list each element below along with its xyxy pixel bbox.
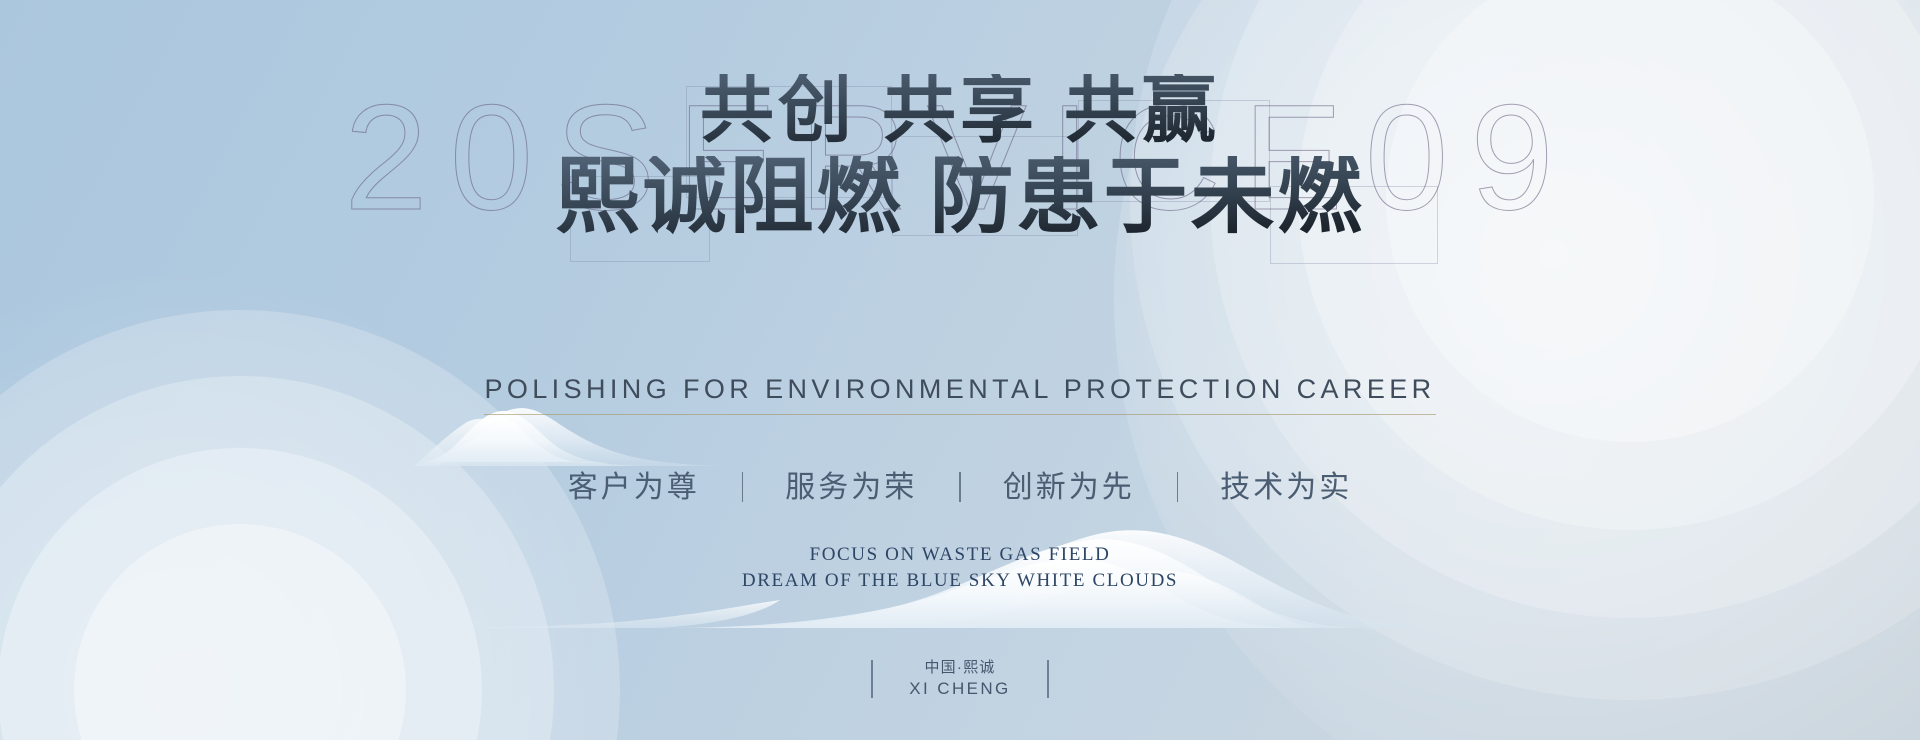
headline-word-4: 熙诚阻燃	[555, 151, 903, 244]
lockup-rule-left	[871, 660, 873, 698]
serif-tagline-line-1: FOCUS ON WASTE GAS FIELD	[0, 542, 1920, 568]
slogan-item-1: 客户为尊	[568, 462, 700, 506]
left-mountain-ridge	[414, 419, 496, 466]
slogan-separator-3	[1177, 472, 1179, 502]
left-foot-haze	[400, 600, 780, 628]
headline-line-2: 熙诚阻燃防患于未燃	[0, 156, 1920, 240]
slogan-item-2: 服务为荣	[785, 462, 917, 506]
lockup-rule-right	[1047, 660, 1049, 698]
headline-word-1: 共创	[700, 70, 856, 152]
tagline-wrapper: POLISHING FOR ENVIRONMENTAL PROTECTION C…	[0, 374, 1920, 415]
brand-lockup: 中国·熙诚 XI CHENG	[0, 658, 1920, 700]
slogan-row: 客户为尊服务为荣创新为先技术为实	[0, 462, 1920, 506]
english-tagline: POLISHING FOR ENVIRONMENTAL PROTECTION C…	[484, 374, 1435, 415]
serif-tagline-line-2: DREAM OF THE BLUE SKY WHITE CLOUDS	[0, 568, 1920, 594]
headline-word-2: 共享	[882, 70, 1038, 152]
headline-word-3: 共赢	[1064, 70, 1220, 152]
left-mountain-front	[404, 411, 652, 466]
lockup-text: 中国·熙诚 XI CHENG	[909, 658, 1010, 700]
lockup-name-cn: 中国·熙诚	[909, 658, 1010, 678]
headline-word-5: 防患于未燃	[930, 151, 1365, 244]
left-mountain-back	[404, 408, 742, 466]
left-mountain-peak	[418, 416, 610, 462]
headline-line-1: 共创共享共赢	[0, 74, 1920, 148]
slogan-item-3: 创新为先	[1003, 462, 1135, 506]
slogan-separator-2	[959, 472, 961, 502]
lockup-name-en: XI CHENG	[909, 678, 1010, 700]
poster-canvas: 20SERVICE09 共创共享共赢 熙诚阻燃防患于未燃 POLISHING F…	[0, 0, 1920, 740]
slogan-separator-1	[742, 472, 744, 502]
headline-block: 共创共享共赢 熙诚阻燃防患于未燃	[0, 74, 1920, 240]
serif-tagline-block: FOCUS ON WASTE GAS FIELD DREAM OF THE BL…	[0, 542, 1920, 593]
slogan-item-4: 技术为实	[1220, 462, 1352, 506]
